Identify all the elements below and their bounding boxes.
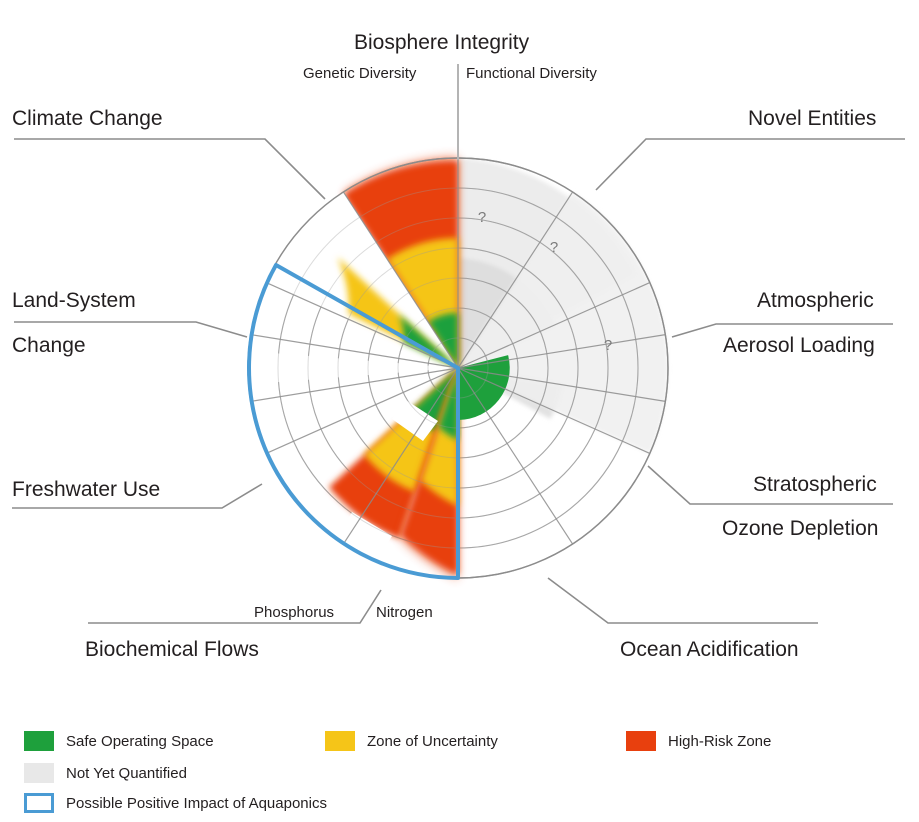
question-mark-novel-entities: ?: [550, 239, 558, 256]
label-atmospheric-line2: Aerosol Loading: [723, 334, 875, 358]
legend-label-zone-of-uncertainty: Zone of Uncertainty: [367, 733, 498, 750]
question-mark-aerosol-loading: ?: [604, 337, 612, 354]
legend-swatch-yellow: [325, 731, 355, 751]
label-climate-change: Climate Change: [12, 107, 163, 131]
label-land-system-change-line1: Land-System: [12, 289, 136, 313]
legend-label-not-yet-quantified: Not Yet Quantified: [66, 765, 187, 782]
label-stratospheric-line2: Ozone Depletion: [722, 517, 878, 541]
leader-novel-entities: [596, 139, 905, 190]
planetary-boundaries-figure: ? ? ? Biosphere In: [0, 0, 919, 822]
legend-swatch-red: [626, 731, 656, 751]
leader-ocean-acidification: [548, 578, 818, 623]
freshwater-use-empty: [248, 351, 458, 384]
label-atmospheric-line1: Atmospheric: [757, 289, 874, 313]
legend-item-high-risk-zone: High-Risk Zone: [626, 731, 771, 751]
legend-label-safe-operating-space: Safe Operating Space: [66, 733, 214, 750]
legend-item-aquaponics-impact: Possible Positive Impact of Aquaponics: [24, 793, 327, 813]
label-biochemical-flows: Biochemical Flows: [85, 638, 259, 662]
label-ocean-acidification: Ocean Acidification: [620, 638, 799, 662]
legend-item-safe-operating-space: Safe Operating Space: [24, 731, 214, 751]
label-biosphere-integrity: Biosphere Integrity: [354, 31, 529, 55]
label-freshwater-use: Freshwater Use: [12, 478, 160, 502]
legend-swatch-blue-outline: [24, 793, 54, 813]
wedge-freshwater-use: [248, 351, 458, 384]
label-functional-diversity: Functional Diversity: [466, 65, 597, 82]
label-novel-entities: Novel Entities: [748, 107, 876, 131]
label-stratospheric-line1: Stratospheric: [753, 473, 877, 497]
legend-item-not-yet-quantified: Not Yet Quantified: [24, 763, 187, 783]
question-mark-functional-diversity: ?: [478, 209, 486, 226]
legend-swatch-green: [24, 731, 54, 751]
label-phosphorus: Phosphorus: [254, 604, 334, 621]
label-genetic-diversity: Genetic Diversity: [303, 65, 416, 82]
legend-label-aquaponics-impact: Possible Positive Impact of Aquaponics: [66, 795, 327, 812]
leader-phosphorus: [88, 590, 381, 623]
legend-swatch-gray: [24, 763, 54, 783]
legend-item-zone-of-uncertainty: Zone of Uncertainty: [325, 731, 498, 751]
label-nitrogen: Nitrogen: [376, 604, 433, 621]
legend-label-high-risk-zone: High-Risk Zone: [668, 733, 771, 750]
label-land-system-change-line2: Change: [12, 334, 86, 358]
leader-climate-change: [14, 139, 325, 199]
